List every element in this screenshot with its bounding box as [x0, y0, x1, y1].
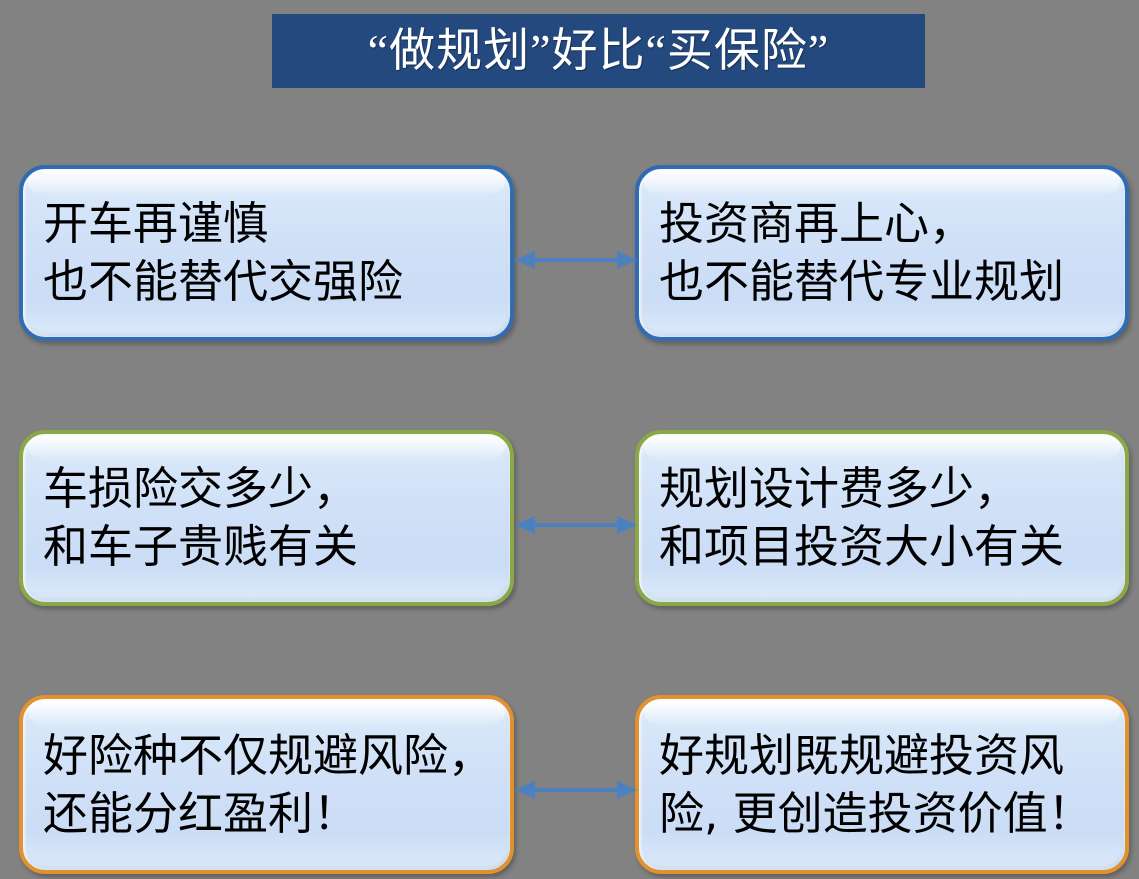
page-title: “做规划”好比“买保险”	[368, 28, 830, 74]
comparison-box-text: 好险种不仅规避风险， 还能分红盈利！	[23, 727, 499, 843]
comparison-box-text: 投资商再上心， 也不能替代专业规划	[639, 195, 1070, 311]
comparison-box-text: 车损险交多少， 和车子贵贱有关	[23, 460, 364, 576]
comparison-box-text: 规划设计费多少， 和项目投资大小有关	[639, 460, 1070, 576]
comparison-box-row1-right: 投资商再上心， 也不能替代专业规划	[635, 165, 1129, 341]
comparison-box-row2-right: 规划设计费多少， 和项目投资大小有关	[635, 430, 1129, 606]
double-arrow-icon-row2	[515, 508, 637, 542]
slide-title-banner: “做规划”好比“买保险”	[272, 14, 925, 88]
comparison-box-text: 好规划既规避投资风 险, 更创造投资价值！	[639, 727, 1099, 843]
comparison-box-row2-left: 车损险交多少， 和车子贵贱有关	[19, 430, 514, 606]
double-arrow-icon-row1	[515, 243, 637, 277]
comparison-box-row3-left: 好险种不仅规避风险， 还能分红盈利！	[19, 695, 514, 874]
comparison-box-text: 开车再谨慎 也不能替代交强险	[23, 195, 409, 311]
comparison-box-row3-right: 好规划既规避投资风 险, 更创造投资价值！	[635, 695, 1129, 874]
comparison-box-row1-left: 开车再谨慎 也不能替代交强险	[19, 165, 514, 341]
double-arrow-icon-row3	[515, 773, 637, 807]
